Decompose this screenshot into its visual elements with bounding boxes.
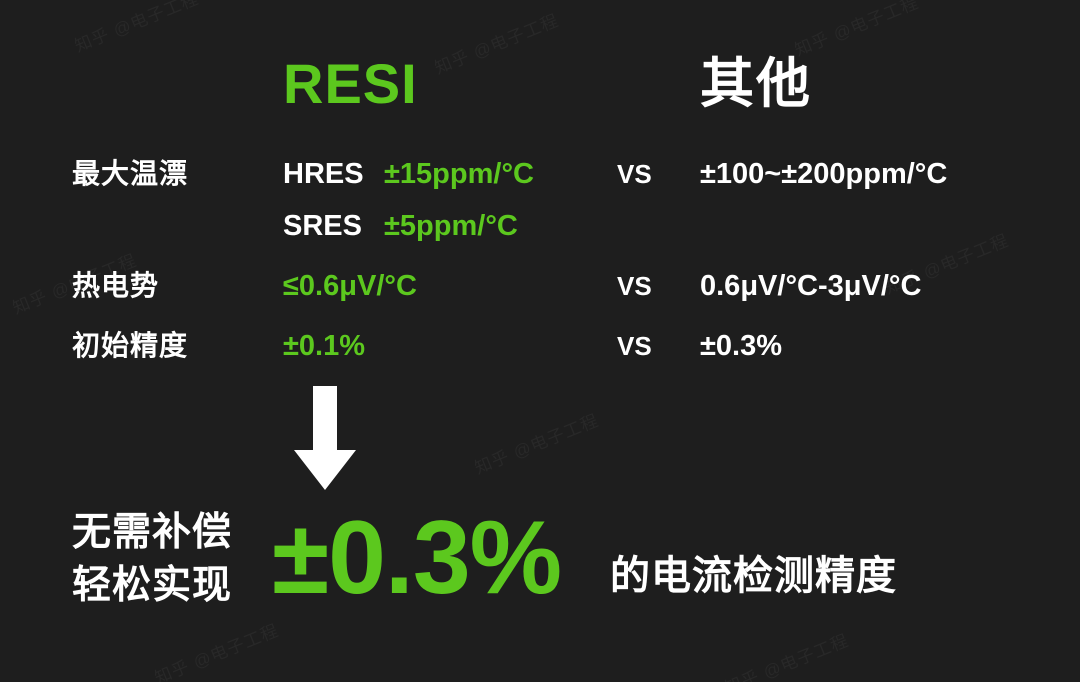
infographic-canvas: 知乎 @电子工程知乎 @电子工程知乎 @电子工程知乎 @电子工程知乎 @电子工程… [0, 0, 1080, 682]
conclusion-line-2: 轻松实现 [72, 559, 232, 612]
watermark-text: 知乎 @电子工程 [470, 406, 602, 479]
row-left-value: ≤0.6μV/°C [283, 264, 417, 308]
conclusion-tail-text: 的电流检测精度 [610, 548, 897, 604]
table-row: 热电势 ≤0.6μV/°C VS 0.6μV/°C-3μV/°C [0, 264, 1080, 320]
table-row: 初始精度 ±0.1% VS ±0.3% [0, 324, 1080, 380]
row-right-value: ±0.3% [700, 324, 782, 368]
table-row: 最大温漂 HRES ±15ppm/°C SRES ±5ppm/°C VS ±10… [0, 152, 1080, 260]
row-left-tag: HRES [283, 152, 364, 196]
header-title-other: 其他 [700, 48, 812, 120]
row-left-value: ±15ppm/°C [384, 152, 534, 196]
header-title-resi: RESI [283, 48, 418, 120]
conclusion-banner: 无需补偿 轻松实现 ±0.3% 的电流检测精度 [0, 498, 1080, 628]
row-label: 热电势 [72, 264, 159, 308]
conclusion-lines: 无需补偿 轻松实现 [72, 506, 232, 612]
row-right-value: ±100~±200ppm/°C [700, 152, 947, 196]
conclusion-highlight-value: ±0.3% [272, 496, 561, 620]
row-vs-separator: VS [617, 264, 652, 308]
watermark-text: 知乎 @电子工程 [720, 626, 852, 682]
row-vs-separator: VS [617, 324, 652, 368]
row-vs-separator: VS [617, 152, 652, 196]
conclusion-line-1: 无需补偿 [72, 506, 232, 559]
row-label: 最大温漂 [72, 152, 188, 196]
row-label: 初始精度 [72, 324, 188, 368]
row-left-value: ±0.1% [283, 324, 365, 368]
arrow-down-icon [292, 386, 358, 492]
row-right-value: 0.6μV/°C-3μV/°C [700, 264, 921, 308]
row-left-tag-secondary: SRES [283, 204, 362, 248]
comparison-header: RESI 其他 [0, 48, 1080, 126]
row-left-value-secondary: ±5ppm/°C [384, 204, 518, 248]
